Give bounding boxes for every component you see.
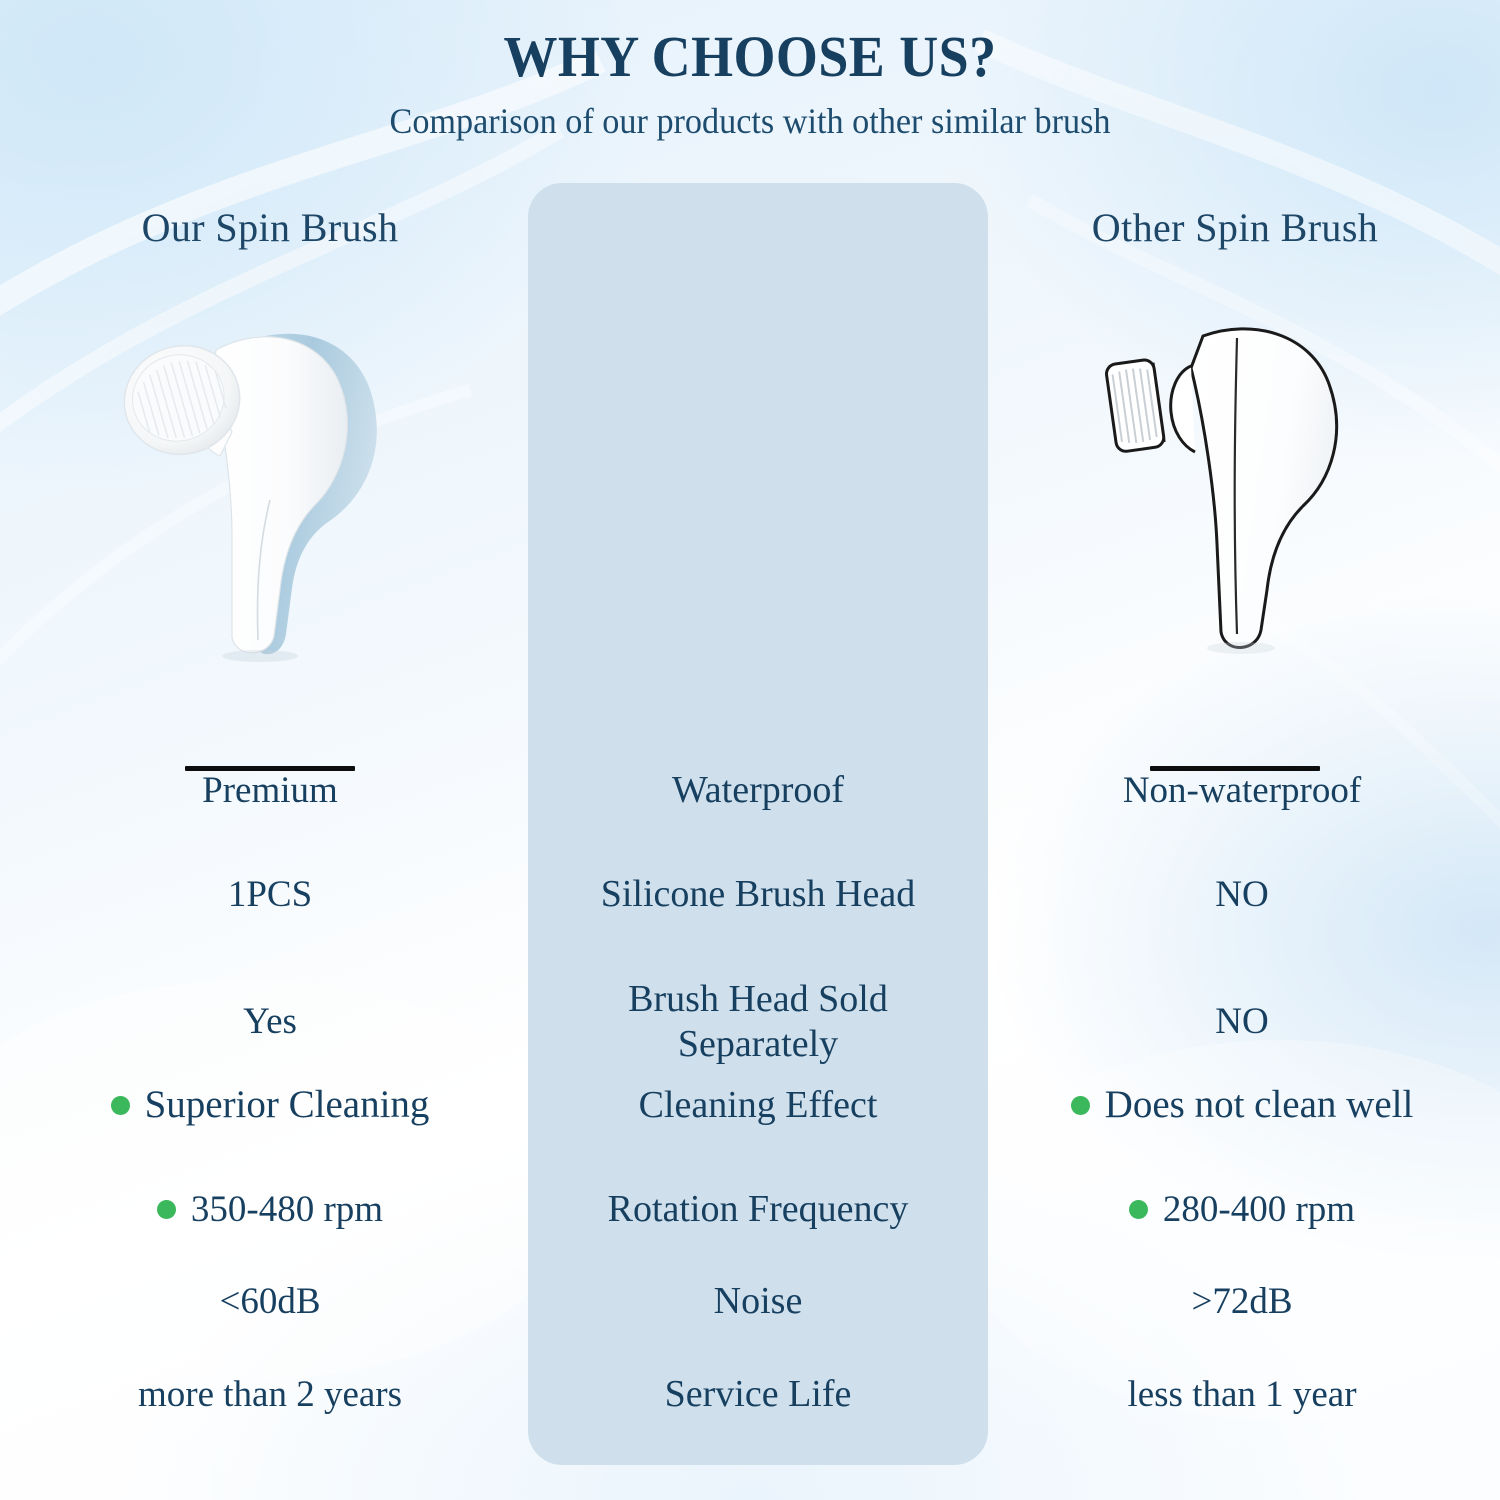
cell-ours-4: 350-480 rpm: [20, 1188, 520, 1232]
bullet-green-icon: [157, 1200, 176, 1219]
table-row: <60dB Noise >72dB: [0, 1279, 1500, 1324]
cell-other-3-text: Does not clean well: [1105, 1082, 1414, 1128]
cell-feature-4: Rotation Frequency: [528, 1187, 988, 1232]
table-row: Superior Cleaning Cleaning Effect Does n…: [0, 1082, 1500, 1128]
cell-ours-3-text: Superior Cleaning: [145, 1082, 430, 1128]
cell-ours-0: Premium: [20, 769, 520, 813]
cell-feature-2: Brush Head Sold Separately: [528, 977, 988, 1067]
infographic-page: WHY CHOOSE US? Comparison of our product…: [0, 0, 1500, 1500]
table-row: 1PCS Silicone Brush Head NO: [0, 872, 1500, 917]
cell-other-5: >72dB: [996, 1280, 1488, 1324]
page-subtitle: Comparison of our products with other si…: [38, 101, 1463, 142]
cell-other-4: 280-400 rpm: [996, 1188, 1488, 1232]
cell-feature-6: Service Life: [528, 1372, 988, 1417]
cell-feature-0: Waterproof: [528, 768, 988, 813]
cell-other-4-text: 280-400 rpm: [1163, 1188, 1355, 1232]
cell-ours-6: more than 2 years: [20, 1373, 520, 1417]
product-image-other: [1000, 304, 1470, 724]
header: WHY CHOOSE US? Comparison of our product…: [0, 26, 1500, 142]
cell-other-1: NO: [996, 873, 1488, 917]
column-our-brush: Our Spin Brush: [35, 200, 505, 771]
cell-ours-1: 1PCS: [20, 873, 520, 917]
cell-ours-3: Superior Cleaning: [20, 1082, 520, 1128]
bullet-green-icon: [1071, 1096, 1090, 1115]
page-title: WHY CHOOSE US?: [53, 26, 1448, 89]
cell-feature-5: Noise: [528, 1279, 988, 1324]
table-row: more than 2 years Service Life less than…: [0, 1372, 1500, 1417]
bullet-green-icon: [111, 1096, 130, 1115]
feature-label-4: Rotation Frequency: [528, 1187, 988, 1232]
product-image-ours: [35, 304, 505, 724]
cell-ours-2: Yes: [20, 1000, 520, 1044]
comparison-rows: Premium Waterproof Non-waterproof 1PCS S…: [0, 752, 1500, 1452]
spin-brush-line-art-icon: [1085, 304, 1385, 664]
cell-feature-3: Cleaning Effect: [528, 1083, 988, 1128]
cell-other-2: NO: [996, 1000, 1488, 1044]
feature-label-0: Waterproof: [528, 768, 988, 813]
cell-other-6: less than 1 year: [996, 1373, 1488, 1417]
feature-label-6: Service Life: [528, 1372, 988, 1417]
cell-other-0: Non-waterproof: [996, 769, 1488, 813]
cell-feature-1: Silicone Brush Head: [528, 872, 988, 917]
feature-label-2-line2: Separately: [528, 1022, 988, 1067]
spin-brush-blue-white-icon: [120, 304, 420, 664]
column-heading-other: Other Spin Brush: [1000, 200, 1470, 256]
column-other-brush: Other Spin Brush: [1000, 200, 1470, 771]
column-heading-ours: Our Spin Brush: [35, 200, 505, 256]
feature-label-3: Cleaning Effect: [528, 1083, 988, 1128]
feature-label-1: Silicone Brush Head: [528, 872, 988, 917]
bullet-green-icon: [1129, 1200, 1148, 1219]
feature-label-2: Brush Head Sold: [528, 977, 988, 1022]
feature-label-5: Noise: [528, 1279, 988, 1324]
cell-ours-4-text: 350-480 rpm: [191, 1188, 383, 1232]
table-row: 350-480 rpm Rotation Frequency 280-400 r…: [0, 1187, 1500, 1232]
table-row: Yes Brush Head Sold Separately NO: [0, 977, 1500, 1067]
cell-other-3: Does not clean well: [996, 1082, 1488, 1128]
cell-ours-5: <60dB: [20, 1280, 520, 1324]
table-row: Premium Waterproof Non-waterproof: [0, 768, 1500, 813]
